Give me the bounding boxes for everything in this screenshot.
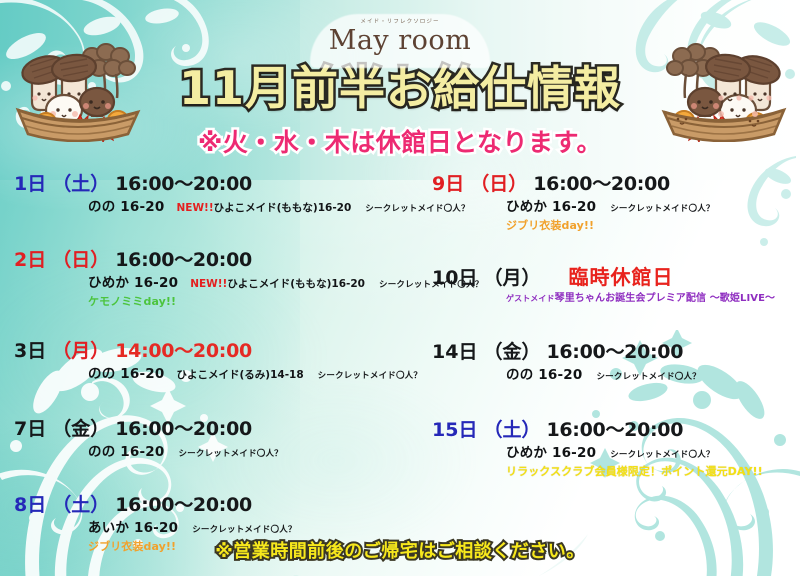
entry-secret-maid: シークレットメイド〇人？ xyxy=(192,521,296,539)
entry-closed-badge: 臨時休館日 xyxy=(568,265,673,290)
schedule-entry: 2日（日）16:00〜20:00ひめか 16-20NEW!!ひよこメイド(ももな… xyxy=(14,248,434,309)
entry-secret-maid: シークレットメイド〇人？ xyxy=(178,445,282,463)
entry-maid-name: のの 16-20 xyxy=(506,366,582,384)
schedule-entry: 1日（土）16:00〜20:00のの 16-20NEW!!ひよこメイド(ももな)… xyxy=(14,172,434,218)
schedule-entry-header: 14日（金）16:00〜20:00 xyxy=(432,340,792,365)
entry-secret-maid: シークレットメイド〇人？ xyxy=(610,446,714,464)
entry-weekday: （金） xyxy=(483,340,540,365)
entry-day-number: 15日 xyxy=(432,418,477,443)
schedule-entry-body: のの 16-20シークレットメイド〇人？ xyxy=(14,443,434,463)
schedule-entry-body: ひめか 16-20シークレットメイド〇人？ xyxy=(432,198,792,218)
schedule-entry: 3日（月）14:00〜20:00のの 16-20ひよこメイド(るみ)14-18シ… xyxy=(14,339,434,385)
entry-note-prefix: ゲストメイド xyxy=(506,294,555,303)
entry-note-text: 琴里ちゃんお誕生会プレミア配信 〜歌姫LIVE〜 xyxy=(555,293,776,304)
entry-time-range: 16:00〜20:00 xyxy=(115,493,252,518)
closed-days-notice: ※火・水・木は休館日となります。 xyxy=(0,128,800,158)
entry-time-range: 16:00〜20:00 xyxy=(533,172,670,197)
entry-weekday: （土） xyxy=(52,493,109,518)
schedule-entry: 7日（金）16:00〜20:00のの 16-20シークレットメイド〇人？ xyxy=(14,417,434,463)
entry-maid-name: のの 16-20 xyxy=(88,198,164,216)
entry-weekday: （土） xyxy=(52,172,109,197)
entry-time-range: 16:00〜20:00 xyxy=(115,172,252,197)
schedule-entry-header: 2日（日）16:00〜20:00 xyxy=(14,248,434,273)
entry-new-tag: NEW!! xyxy=(176,202,213,214)
entry-day-number: 10日 xyxy=(432,266,477,291)
schedule-entry-body: ひめか 16-20NEW!!ひよこメイド(ももな)16-20シークレットメイド〇… xyxy=(14,274,434,294)
entry-new-maid-label: ひよこメイド(るみ)14-18 xyxy=(176,369,303,381)
entry-maid-name: のの 16-20 xyxy=(88,443,164,461)
entry-new-maid-label: ひよこメイド(ももな)16-20 xyxy=(227,278,365,290)
entry-secret-maid: シークレットメイド〇人？ xyxy=(610,200,714,218)
entry-time-range: 14:00〜20:00 xyxy=(115,339,252,364)
entry-secret-maid: シークレットメイド〇人？ xyxy=(318,367,422,385)
schedule-entry-body: ひめか 16-20シークレットメイド〇人？ xyxy=(432,444,792,464)
schedule-entry-header: 9日（日）16:00〜20:00 xyxy=(432,172,792,197)
schedule-column-left: 1日（土）16:00〜20:00のの 16-20NEW!!ひよこメイド(ももな)… xyxy=(14,172,434,576)
schedule-entry-body: のの 16-20シークレットメイド〇人？ xyxy=(432,366,792,386)
poster-root: メイド・リフレクソロジー May room 11月前半お給仕情報 ※火・水・木は… xyxy=(0,0,800,576)
entry-special-note: ジブリ衣装day!! xyxy=(432,218,792,233)
entry-weekday: （金） xyxy=(52,417,109,442)
entry-time-range: 16:00〜20:00 xyxy=(115,417,252,442)
entry-time-range: 16:00〜20:00 xyxy=(546,418,683,443)
schedule-entry: 14日（金）16:00〜20:00のの 16-20シークレットメイド〇人？ xyxy=(432,340,792,386)
entry-maid-name: ひめか 16-20 xyxy=(88,274,178,292)
schedule-column-right: 9日（日）16:00〜20:00ひめか 16-20シークレットメイド〇人？ジブリ… xyxy=(432,172,792,511)
entry-day-number: 3日 xyxy=(14,339,46,364)
entry-day-number: 9日 xyxy=(432,172,464,197)
schedule-entry-body: のの 16-20NEW!!ひよこメイド(ももな)16-20シークレットメイド〇人… xyxy=(14,198,434,218)
entry-time-range: 16:00〜20:00 xyxy=(115,248,252,273)
entry-day-number: 7日 xyxy=(14,417,46,442)
schedule-entry-body: のの 16-20ひよこメイド(るみ)14-18シークレットメイド〇人？ xyxy=(14,365,434,385)
entry-day-number: 1日 xyxy=(14,172,46,197)
entry-new-maid: ひよこメイド(るみ)14-18 xyxy=(176,366,303,384)
schedule-entry-body: あいか 16-20シークレットメイド〇人？ xyxy=(14,519,434,539)
schedule-entry: 9日（日）16:00〜20:00ひめか 16-20シークレットメイド〇人？ジブリ… xyxy=(432,172,792,233)
entry-new-maid: NEW!!ひよこメイド(ももな)16-20 xyxy=(176,199,351,217)
schedule-entry-header: 15日（土）16:00〜20:00 xyxy=(432,418,792,443)
schedule-entry-header: 3日（月）14:00〜20:00 xyxy=(14,339,434,364)
schedule-entry-header: 1日（土）16:00〜20:00 xyxy=(14,172,434,197)
entry-maid-name: ひめか 16-20 xyxy=(506,198,596,216)
entry-maid-name: ひめか 16-20 xyxy=(506,444,596,462)
entry-new-maid-label: ひよこメイド(ももな)16-20 xyxy=(214,202,352,214)
entry-weekday: （日） xyxy=(470,172,527,197)
entry-weekday: （日） xyxy=(52,248,109,273)
entry-special-note: リラックスクラブ会員様限定！ポイント還元DAY!! xyxy=(432,464,792,479)
schedule-columns: 1日（土）16:00〜20:00のの 16-20NEW!!ひよこメイド(ももな)… xyxy=(0,172,800,517)
entry-day-number: 8日 xyxy=(14,493,46,518)
entry-weekday: （月） xyxy=(483,266,540,291)
entry-weekday: （月） xyxy=(52,339,109,364)
schedule-entry-header: 7日（金）16:00〜20:00 xyxy=(14,417,434,442)
schedule-entry: 15日（土）16:00〜20:00ひめか 16-20シークレットメイド〇人？リラ… xyxy=(432,418,792,479)
brand-name: May room xyxy=(285,26,515,56)
footer-note: ※営業時間前後のご帰宅はご相談ください。 xyxy=(0,540,800,564)
entry-special-note: ケモノミミday!! xyxy=(14,294,434,309)
entry-special-note: ゲストメイド琴里ちゃんお誕生会プレミア配信 〜歌姫LIVE〜 xyxy=(432,291,792,306)
page-title: 11月前半お給仕情報 xyxy=(0,62,800,114)
entry-day-number: 2日 xyxy=(14,248,46,273)
entry-day-number: 14日 xyxy=(432,340,477,365)
entry-maid-name: あいか 16-20 xyxy=(88,519,178,537)
entry-maid-name: のの 16-20 xyxy=(88,365,164,383)
entry-new-maid: NEW!!ひよこメイド(ももな)16-20 xyxy=(190,275,365,293)
schedule-entry: 10日（月）臨時休館日ゲストメイド琴里ちゃんお誕生会プレミア配信 〜歌姫LIVE… xyxy=(432,265,792,306)
schedule-entry-header: 8日（土）16:00〜20:00 xyxy=(14,493,434,518)
entry-weekday: （土） xyxy=(483,418,540,443)
entry-new-tag: NEW!! xyxy=(190,278,227,290)
entry-time-range: 16:00〜20:00 xyxy=(546,340,683,365)
entry-secret-maid: シークレットメイド〇人？ xyxy=(596,368,700,386)
brand-logo: メイド・リフレクソロジー May room xyxy=(285,18,515,56)
schedule-entry-header: 10日（月）臨時休館日 xyxy=(432,265,792,291)
